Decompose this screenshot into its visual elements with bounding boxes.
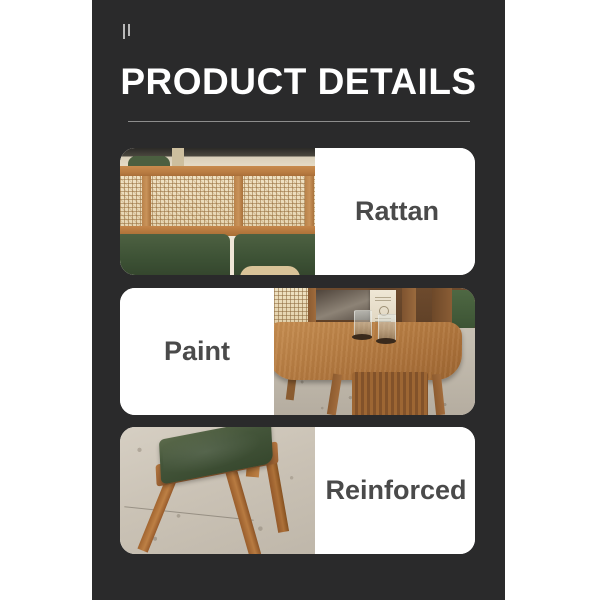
paint-label-pane: Paint	[120, 288, 274, 415]
product-details-page: PRODUCT DETAILS Rattan	[0, 0, 600, 600]
paint-photo	[274, 288, 475, 415]
rattan-photo	[120, 148, 315, 275]
detail-card-paint[interactable]: Paint	[120, 288, 475, 415]
card-label-reinforced: Reinforced	[325, 475, 466, 506]
detail-card-rattan[interactable]: Rattan	[120, 148, 475, 275]
card-label-paint: Paint	[164, 336, 230, 367]
rattan-label-pane: Rattan	[315, 148, 475, 275]
page-title: PRODUCT DETAILS	[92, 58, 505, 105]
title-divider	[128, 121, 470, 122]
detail-card-reinforced[interactable]: Reinforced	[120, 427, 475, 554]
quote-mark-icon	[122, 24, 136, 40]
reinforced-label-pane: Reinforced	[315, 427, 475, 554]
reinforced-photo	[120, 427, 315, 554]
card-label-rattan: Rattan	[355, 196, 439, 227]
